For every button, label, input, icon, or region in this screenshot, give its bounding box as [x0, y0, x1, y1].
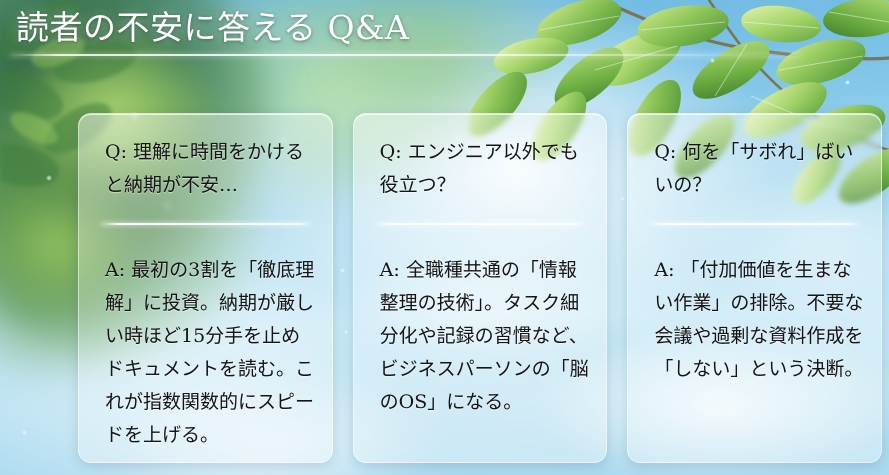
qa-answer: A: 「付加価値を生まない作業」の排除。不要な会議や過剰な資料作成を「しない」と…	[648, 254, 865, 386]
card-divider	[650, 223, 859, 225]
qa-answer: A: 全職種共通の「情報整理の技術」。タスク細分化や記録の習慣など、ビジネスパー…	[374, 254, 591, 419]
qa-question: Q: 理解に時間をかけると納期が不安…	[99, 136, 312, 202]
qa-question: Q: 何を「サボれ」ばいいの？	[648, 136, 861, 202]
qa-card[interactable]: Q: 理解に時間をかけると納期が不安… A: 最初の3割を「徹底理解」に投資。納…	[78, 113, 333, 463]
qa-card[interactable]: Q: 何を「サボれ」ばいいの？ A: 「付加価値を生まない作業」の排除。不要な会…	[627, 113, 882, 463]
qa-card-list: Q: 理解に時間をかけると納期が不安… A: 最初の3割を「徹底理解」に投資。納…	[78, 113, 882, 463]
slide-canvas: 読者の不安に答える Q&A Q: 理解に時間をかけると納期が不安… A: 最初の…	[0, 0, 889, 475]
card-divider	[376, 223, 585, 225]
qa-card[interactable]: Q: エンジニア以外でも役立つ？ A: 全職種共通の「情報整理の技術」。タスク細…	[353, 113, 608, 463]
page-title: 読者の不安に答える Q&A	[16, 6, 409, 50]
qa-question: Q: エンジニア以外でも役立つ？	[374, 136, 587, 202]
qa-answer: A: 最初の3割を「徹底理解」に投資。納期が厳しい時ほど15分手を止めドキュメン…	[99, 254, 316, 452]
card-divider	[101, 223, 310, 225]
title-underline	[10, 54, 800, 56]
